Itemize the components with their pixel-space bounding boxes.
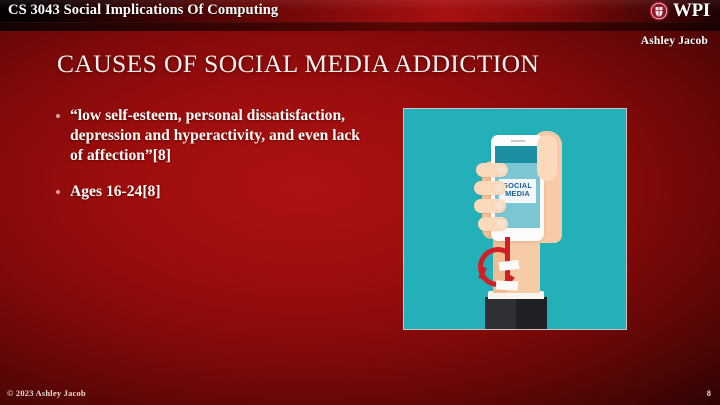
bandage-shape: [496, 280, 518, 290]
author-byline: Ashley Jacob: [641, 35, 708, 47]
slide-page-number: 8: [707, 388, 711, 398]
finger-shape: [474, 181, 506, 195]
fingernail-shape: [497, 166, 505, 174]
phone-speaker-icon: [510, 140, 525, 142]
thumb-shape: [537, 135, 557, 181]
sleeve-shadow-shape: [516, 297, 547, 329]
illustration-canvas: SOCIAL MEDIA: [404, 109, 626, 329]
bullet-text: “low self-esteem, personal dissatisfacti…: [70, 106, 376, 166]
slide-title: CAUSES OF SOCIAL MEDIA ADDICTION: [57, 49, 539, 79]
fingernail-shape: [495, 202, 503, 210]
bullet-dot-icon: [56, 190, 60, 194]
list-item: “low self-esteem, personal dissatisfacti…: [56, 106, 376, 166]
fingernail-shape: [497, 220, 505, 228]
bullet-list: “low self-esteem, personal dissatisfacti…: [56, 106, 376, 218]
wpi-logo: WPI: [649, 1, 710, 21]
wpi-seal-icon: [649, 1, 669, 21]
app-header-bar: [495, 146, 540, 163]
bullet-text: Ages 16-24[8]: [70, 182, 161, 202]
finger-shape: [478, 217, 508, 231]
fingernail-shape: [495, 184, 503, 192]
finger-shape: [476, 163, 508, 177]
finger-shape: [474, 199, 506, 213]
slide-image: SOCIAL MEDIA: [403, 108, 627, 330]
bullet-dot-icon: [56, 114, 60, 118]
course-title: CS 3043 Social Implications Of Computing: [8, 2, 278, 19]
list-item: Ages 16-24[8]: [56, 182, 376, 202]
wpi-wordmark: WPI: [673, 1, 710, 21]
footer-copyright: © 2023 Ashley Jacob: [7, 388, 86, 398]
header-underline: [0, 22, 720, 31]
presentation-slide: CS 3043 Social Implications Of Computing…: [0, 0, 720, 405]
